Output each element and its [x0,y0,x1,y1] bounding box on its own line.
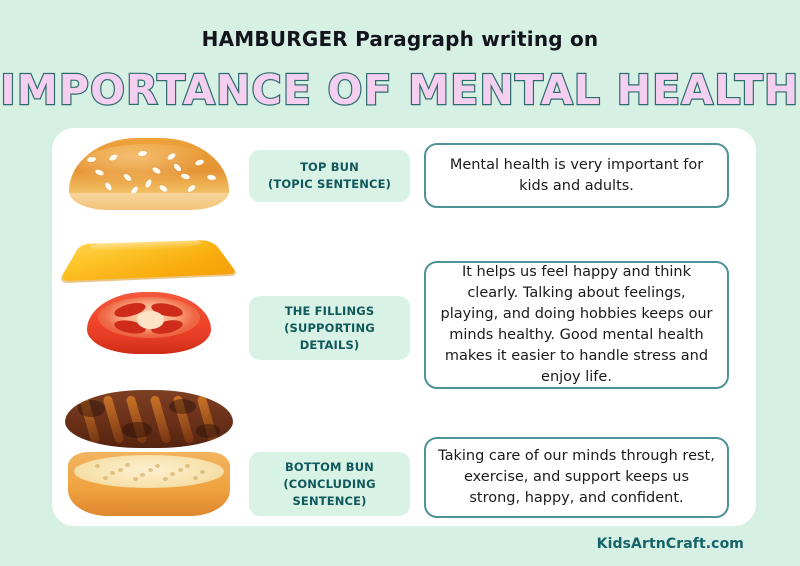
illustration-tomato-slice [56,292,242,354]
bun-bottom-shape [68,452,230,516]
header-kicker: HAMBURGER Paragraph writing on [0,27,800,51]
label-bottom-bun-text: BOTTOM BUN (CONCLUDING SENTENCE) [283,459,375,510]
cheese-shape [73,232,225,282]
label-fillings-text: THE FILLINGS (SUPPORTING DETAILS) [284,303,375,354]
page-title: IMPORTANCE OF MENTAL HEALTH [0,66,800,114]
cheese-icon [56,232,242,282]
label-fillings: THE FILLINGS (SUPPORTING DETAILS) [249,296,410,360]
textbox-supporting-details: It helps us feel happy and think clearly… [424,261,729,389]
illustration-beef-patty [56,390,242,448]
illustration-cheese-slice [56,232,242,282]
patty-icon [56,390,242,448]
label-top-bun-text: TOP BUN (TOPIC SENTENCE) [268,159,391,193]
bottom-bun-icon [56,452,242,516]
textbox-supporting-details-text: It helps us feel happy and think clearly… [438,262,715,388]
label-top-bun: TOP BUN (TOPIC SENTENCE) [249,150,410,202]
illustration-top-bun [56,138,242,210]
label-bottom-bun: BOTTOM BUN (CONCLUDING SENTENCE) [249,452,410,516]
bun-top-shape [69,138,229,210]
tomato-shape [87,292,211,354]
textbox-concluding-sentence-text: Taking care of our minds through rest, e… [438,446,715,509]
page-header: HAMBURGER Paragraph writing on IMPORTANC… [0,0,800,128]
textbox-topic-sentence-text: Mental health is very important for kids… [438,155,715,197]
footer-watermark: KidsArtnCraft.com [597,536,744,552]
top-bun-icon [56,138,242,210]
tomato-icon [56,292,242,354]
textbox-concluding-sentence: Taking care of our minds through rest, e… [424,437,729,518]
illustration-bottom-bun [56,452,242,516]
patty-shape [65,390,233,448]
textbox-topic-sentence: Mental health is very important for kids… [424,143,729,208]
